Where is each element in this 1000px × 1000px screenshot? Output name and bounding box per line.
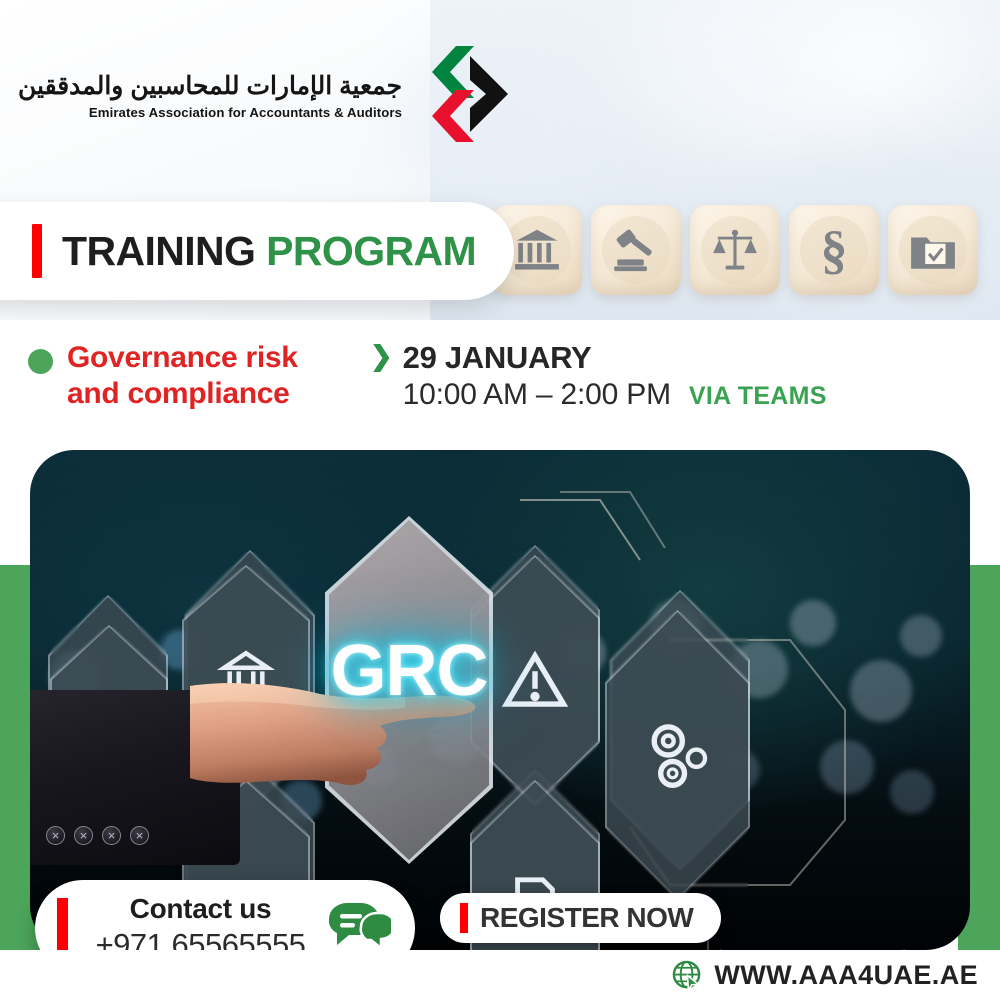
logo-chevron-mark (412, 42, 524, 146)
banner-title-program: PROGRAM (266, 228, 476, 274)
courthouse-icon (512, 225, 562, 275)
sleeve-buttons (46, 826, 149, 845)
organization-logo: جمعية الإمارات للمحاسبين والمدققين Emira… (18, 42, 524, 146)
warning-triangle-icon (500, 645, 570, 715)
sleeve-button (130, 826, 149, 845)
banner-title-training: TRAINING (62, 228, 255, 274)
event-time: 10:00 AM – 2:00 PM (403, 377, 671, 413)
red-accent-bar (32, 224, 42, 278)
chevron-right-icon: ❯ (370, 340, 393, 374)
event-date: 29 JANUARY (403, 340, 827, 377)
block-scales (690, 205, 780, 295)
folder-check-icon (908, 225, 958, 275)
block-section-sign: § (789, 205, 879, 295)
chat-bubble-icon[interactable] (327, 899, 391, 957)
contact-label: Contact us (88, 893, 313, 925)
gavel-icon (611, 225, 661, 275)
header-area: § جمعية الإمارات للمحاسبين والمدققين Emi… (0, 0, 1000, 320)
section-sign-icon: § (821, 223, 848, 277)
schedule-block: ❯ 29 JANUARY 10:00 AM – 2:00 PM VIA TEAM… (370, 340, 827, 413)
hero-image: GRC (30, 450, 970, 950)
course-title-line2: and compliance (67, 376, 298, 412)
training-program-banner: TRAINING PROGRAM (0, 202, 514, 300)
block-gavel (591, 205, 681, 295)
register-button-label: REGISTER NOW (480, 902, 693, 934)
globe-cursor-icon (672, 960, 703, 991)
training-program-poster: § جمعية الإمارات للمحاسبين والمدققين Emi… (0, 0, 1000, 1000)
wooden-blocks-row: § (492, 205, 978, 295)
logo-arabic-name: جمعية الإمارات للمحاسبين والمدققين (18, 72, 402, 101)
green-bullet-icon (28, 349, 53, 374)
sleeve-button (46, 826, 65, 845)
sleeve-button (102, 826, 121, 845)
sleeve-button (74, 826, 93, 845)
footer-bar: WWW.AAA4UAE.AE (0, 950, 1000, 1000)
logo-english-name: Emirates Association for Accountants & A… (18, 105, 402, 120)
block-folder-check (888, 205, 978, 295)
course-title-line1: Governance risk (67, 340, 298, 376)
footer-website: WWW.AAA4UAE.AE (714, 960, 978, 991)
event-info-row: Governance risk and compliance ❯ 29 JANU… (0, 330, 1000, 440)
grc-label: GRC (329, 630, 489, 712)
course-title-block: Governance risk and compliance (28, 340, 298, 412)
scales-icon (710, 225, 760, 275)
course-title: Governance risk and compliance (67, 340, 298, 412)
red-accent-bar (57, 898, 68, 958)
register-now-button[interactable]: REGISTER NOW (440, 893, 721, 943)
red-accent-bar (460, 903, 468, 933)
gears-icon (638, 715, 718, 795)
event-platform: VIA TEAMS (689, 382, 827, 411)
